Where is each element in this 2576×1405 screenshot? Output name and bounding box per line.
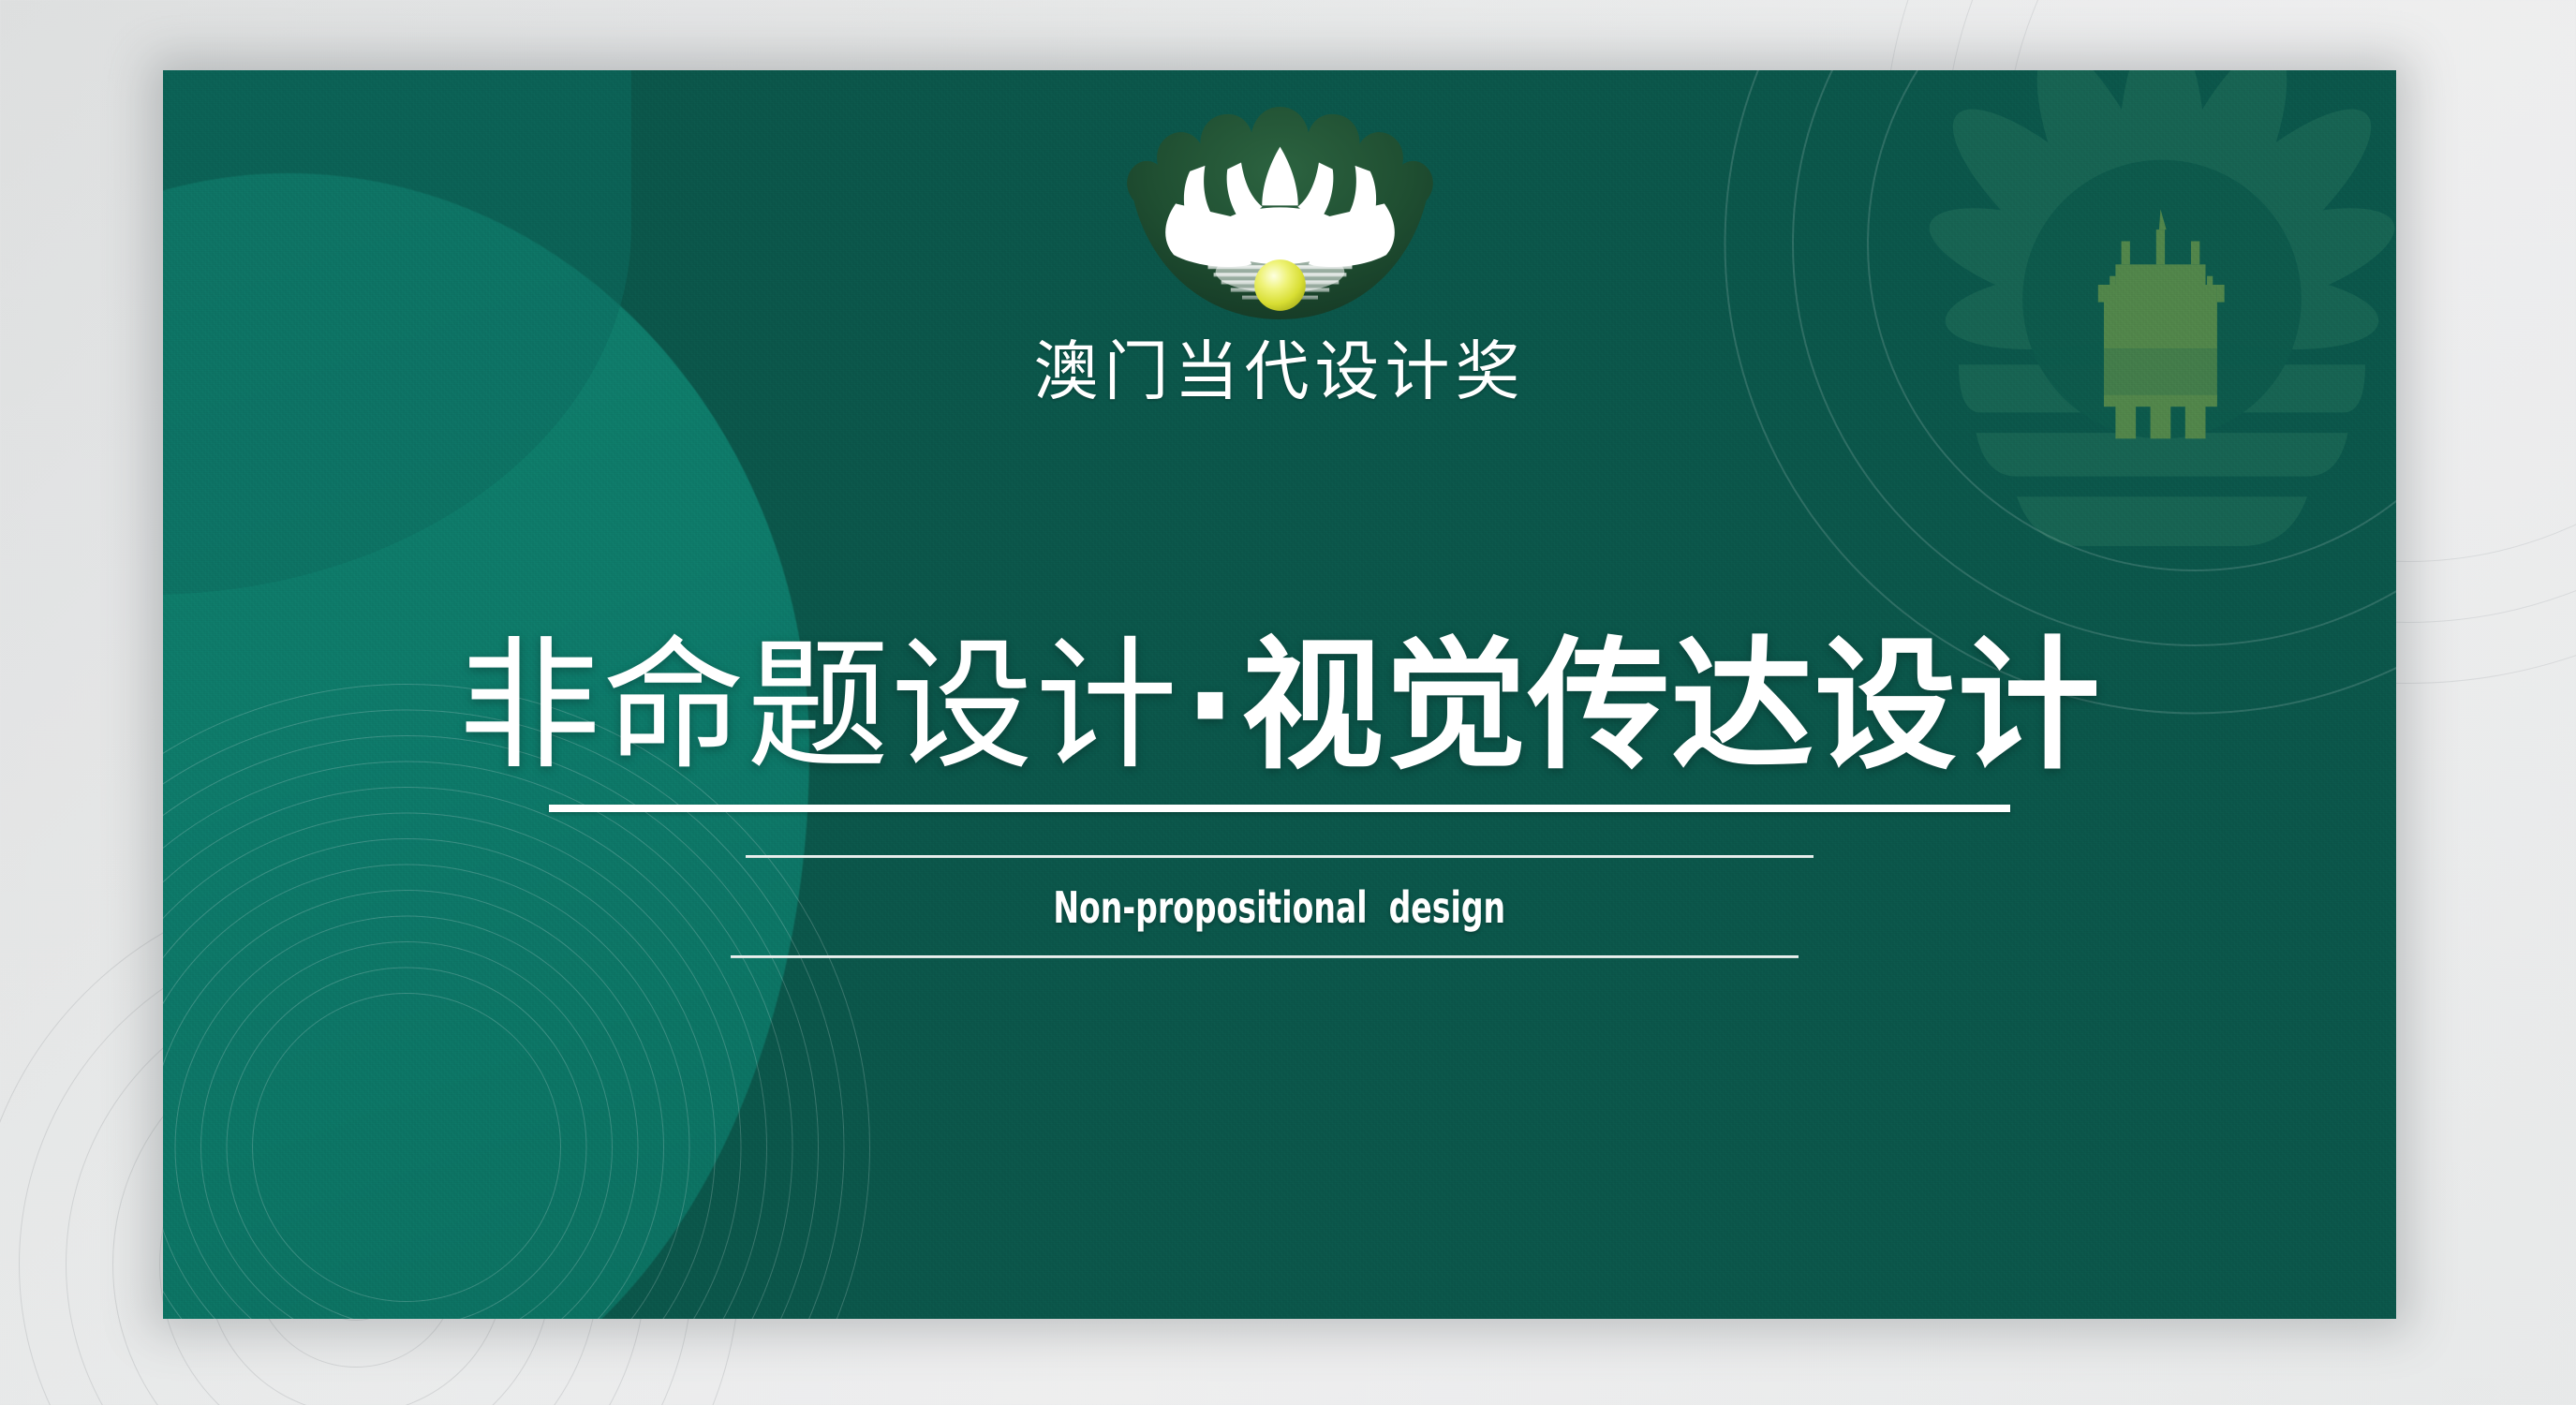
award-name-cn: 澳门当代设计奖 xyxy=(1034,340,1526,405)
macau-lotus-emblem-icon xyxy=(1109,103,1451,323)
title-divider-thick xyxy=(549,805,2010,812)
title-block: 非命题设计·视觉传达设计 Non-propositional design xyxy=(163,632,2396,958)
award-logo: 澳门当代设计奖 xyxy=(163,103,2396,405)
title-bold-segment: 视觉传达设计 xyxy=(1241,623,2101,789)
presentation-slide: 澳门当代设计奖 非命题设计·视觉传达设计 Non-propositional d… xyxy=(163,70,2396,1319)
title-separator-dot: · xyxy=(1179,623,1241,789)
subtitle-divider-top xyxy=(746,855,1814,858)
subtitle-block: Non-propositional design xyxy=(746,855,1814,958)
subtitle-divider-bottom xyxy=(731,955,1799,958)
title-light-segment: 非命题设计 xyxy=(458,623,1179,789)
subtitle-en: Non-propositional design xyxy=(1054,882,1506,933)
page-title: 非命题设计·视觉传达设计 xyxy=(458,632,2101,780)
